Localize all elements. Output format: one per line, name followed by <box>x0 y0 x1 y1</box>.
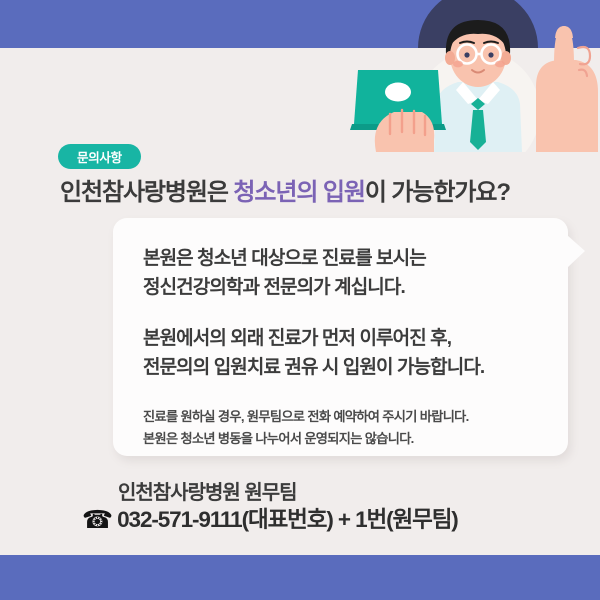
answer-paragraph-1: 본원은 청소년 대상으로 진료를 보시는 정신건강의학과 전문의가 계십니다. <box>143 244 538 302</box>
telephone-icon: ☎ <box>82 508 113 533</box>
answer-note-line: 본원은 청소년 병동을 나누어서 운영되지는 않습니다. <box>143 428 538 450</box>
question-headline: 인천참사랑병원은 청소년의 입원이 가능한가요? <box>60 172 580 207</box>
bottom-color-band <box>0 555 600 600</box>
answer-paragraph-2: 본원에서의 외래 진료가 먼저 이루어진 후, 전문의의 입원치료 권유 시 입… <box>143 324 538 382</box>
speech-bubble-tail-icon <box>567 235 585 268</box>
footer-phone-row: ☎ 032-571-9111(대표번호) + 1번(원무팀) <box>82 508 600 533</box>
footer-phone-number: 032-571-9111(대표번호) + 1번(원무팀) <box>117 509 458 532</box>
answer-notes: 진료를 원하실 경우, 원무팀으로 전화 예약하여 주시기 바랍니다. 본원은 … <box>143 406 538 450</box>
poster-root: 문의사항 인천참사랑병원은 청소년의 입원이 가능한가요? 본원은 청소년 대상… <box>0 0 600 600</box>
inquiry-badge-label: 문의사항 <box>77 147 122 166</box>
footer-team-name: 인천참사랑병원 원무팀 <box>118 478 600 508</box>
answer-line: 본원은 청소년 대상으로 진료를 보시는 <box>143 244 538 273</box>
answer-bubble-wrapper: 본원은 청소년 대상으로 진료를 보시는 정신건강의학과 전문의가 계십니다. … <box>113 218 568 456</box>
answer-bubble: 본원은 청소년 대상으로 진료를 보시는 정신건강의학과 전문의가 계십니다. … <box>113 218 568 456</box>
answer-paragraph-spacer <box>143 302 538 324</box>
headline-text-after: 이 가능한가요? <box>365 179 510 206</box>
answer-line: 정신건강의학과 전문의가 계십니다. <box>143 273 538 302</box>
headline-text-before: 인천참사랑병원은 <box>60 179 233 206</box>
headline-highlight: 청소년의 입원 <box>233 179 364 206</box>
answer-line: 본원에서의 외래 진료가 먼저 이루어진 후, <box>143 324 538 353</box>
answer-note-line: 진료를 원하실 경우, 원무팀으로 전화 예약하여 주시기 바랍니다. <box>143 406 538 428</box>
footer-contact: 인천참사랑병원 원무팀 ☎ 032-571-9111(대표번호) + 1번(원무… <box>0 478 600 533</box>
doctor-illustration <box>350 0 600 152</box>
inquiry-badge: 문의사항 <box>58 144 141 169</box>
answer-line: 전문의의 입원치료 권유 시 입원이 가능합니다. <box>143 353 538 382</box>
